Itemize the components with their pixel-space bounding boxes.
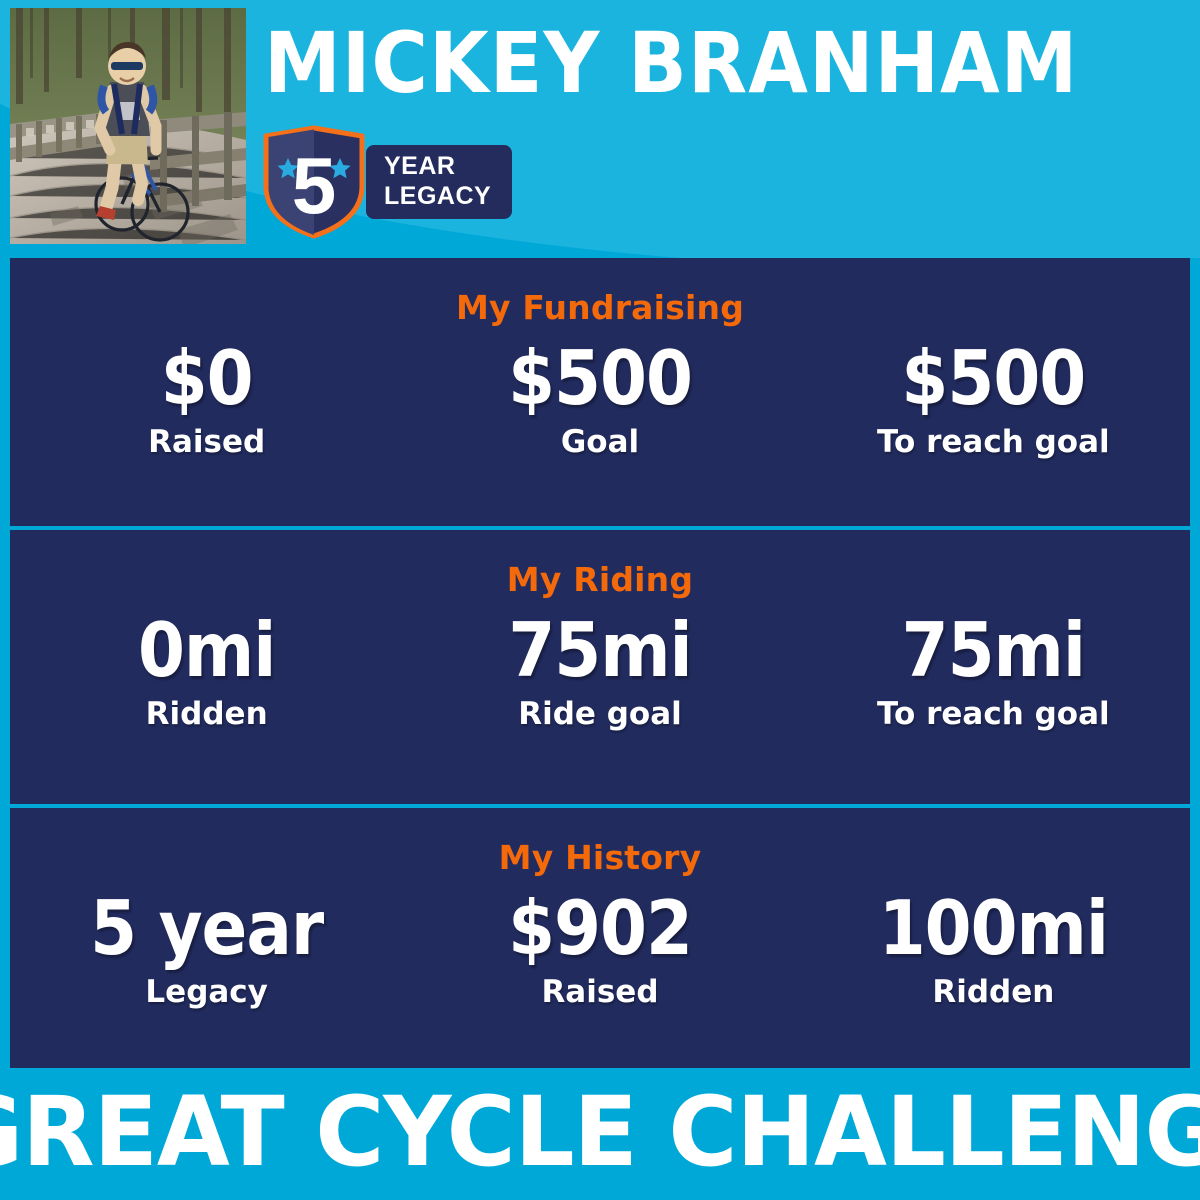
stat-to-reach-goal: $500 To reach goal [797, 336, 1190, 460]
stat-value: $0 [10, 336, 403, 420]
cyclist-photo [10, 8, 246, 244]
stat-ride-goal: 75mi Ride goal [403, 608, 796, 732]
stat-raised: $0 Raised [10, 336, 403, 460]
event-logo-text: GREAT CYCLE CHALLENGE [0, 1082, 1200, 1182]
section-title-fundraising: My Fundraising [10, 258, 1190, 324]
section-fundraising: My Fundraising $0 Raised $500 Goal $500 … [10, 258, 1190, 526]
stats-row-history: 5 year Legacy $902 Raised 100mi Ridden [10, 886, 1190, 1010]
stat-label: Raised [403, 974, 796, 1010]
legacy-line-year: YEAR [384, 151, 512, 181]
header-banner: MICKEY BRANHAM 5 YEAR LEGACY [0, 0, 1200, 258]
stat-value: $500 [403, 336, 796, 420]
section-title-riding: My Riding [10, 530, 1190, 596]
stats-row-fundraising: $0 Raised $500 Goal $500 To reach goal [10, 336, 1190, 460]
stat-value: 75mi [403, 608, 796, 692]
badge-number: 5 [292, 141, 337, 230]
stat-label: Legacy [10, 974, 403, 1010]
stat-legacy: 5 year Legacy [10, 886, 403, 1010]
stats-row-riding: 0mi Ridden 75mi Ride goal 75mi To reach … [10, 608, 1190, 732]
legacy-plate: YEAR LEGACY [366, 145, 512, 219]
stat-label: Goal [403, 424, 796, 460]
legacy-line-legacy: LEGACY [384, 181, 512, 211]
shield-icon: 5 [258, 124, 370, 240]
stat-history-raised: $902 Raised [403, 886, 796, 1010]
section-title-history: My History [10, 808, 1190, 874]
stat-value: 75mi [797, 608, 1190, 692]
stat-value: 100mi [797, 886, 1190, 970]
stat-history-ridden: 100mi Ridden [797, 886, 1190, 1010]
fundraiser-poster: MICKEY BRANHAM 5 YEAR LEGACY My Fundrais… [0, 0, 1200, 1200]
stat-label: Ridden [797, 974, 1190, 1010]
stat-label: Raised [10, 424, 403, 460]
stat-value: $902 [403, 886, 796, 970]
stat-label: Ride goal [403, 696, 796, 732]
stat-label: To reach goal [797, 696, 1190, 732]
section-history: My History 5 year Legacy $902 Raised 100… [10, 808, 1190, 1076]
section-riding: My Riding 0mi Ridden 75mi Ride goal 75mi… [10, 530, 1190, 804]
stat-value: $500 [797, 336, 1190, 420]
stat-label: Ridden [10, 696, 403, 732]
avatar [10, 8, 246, 244]
stat-value: 5 year [10, 886, 403, 970]
page-title: MICKEY BRANHAM [264, 20, 978, 106]
stat-goal: $500 Goal [403, 336, 796, 460]
stat-ride-to-reach-goal: 75mi To reach goal [797, 608, 1190, 732]
stat-value: 0mi [10, 608, 403, 692]
footer-banner: GREAT CYCLE CHALLENGE [0, 1068, 1200, 1200]
legacy-badge: 5 YEAR LEGACY [258, 124, 512, 240]
stat-ridden: 0mi Ridden [10, 608, 403, 732]
stat-label: To reach goal [797, 424, 1190, 460]
stats-panel: My Fundraising $0 Raised $500 Goal $500 … [10, 258, 1190, 1068]
